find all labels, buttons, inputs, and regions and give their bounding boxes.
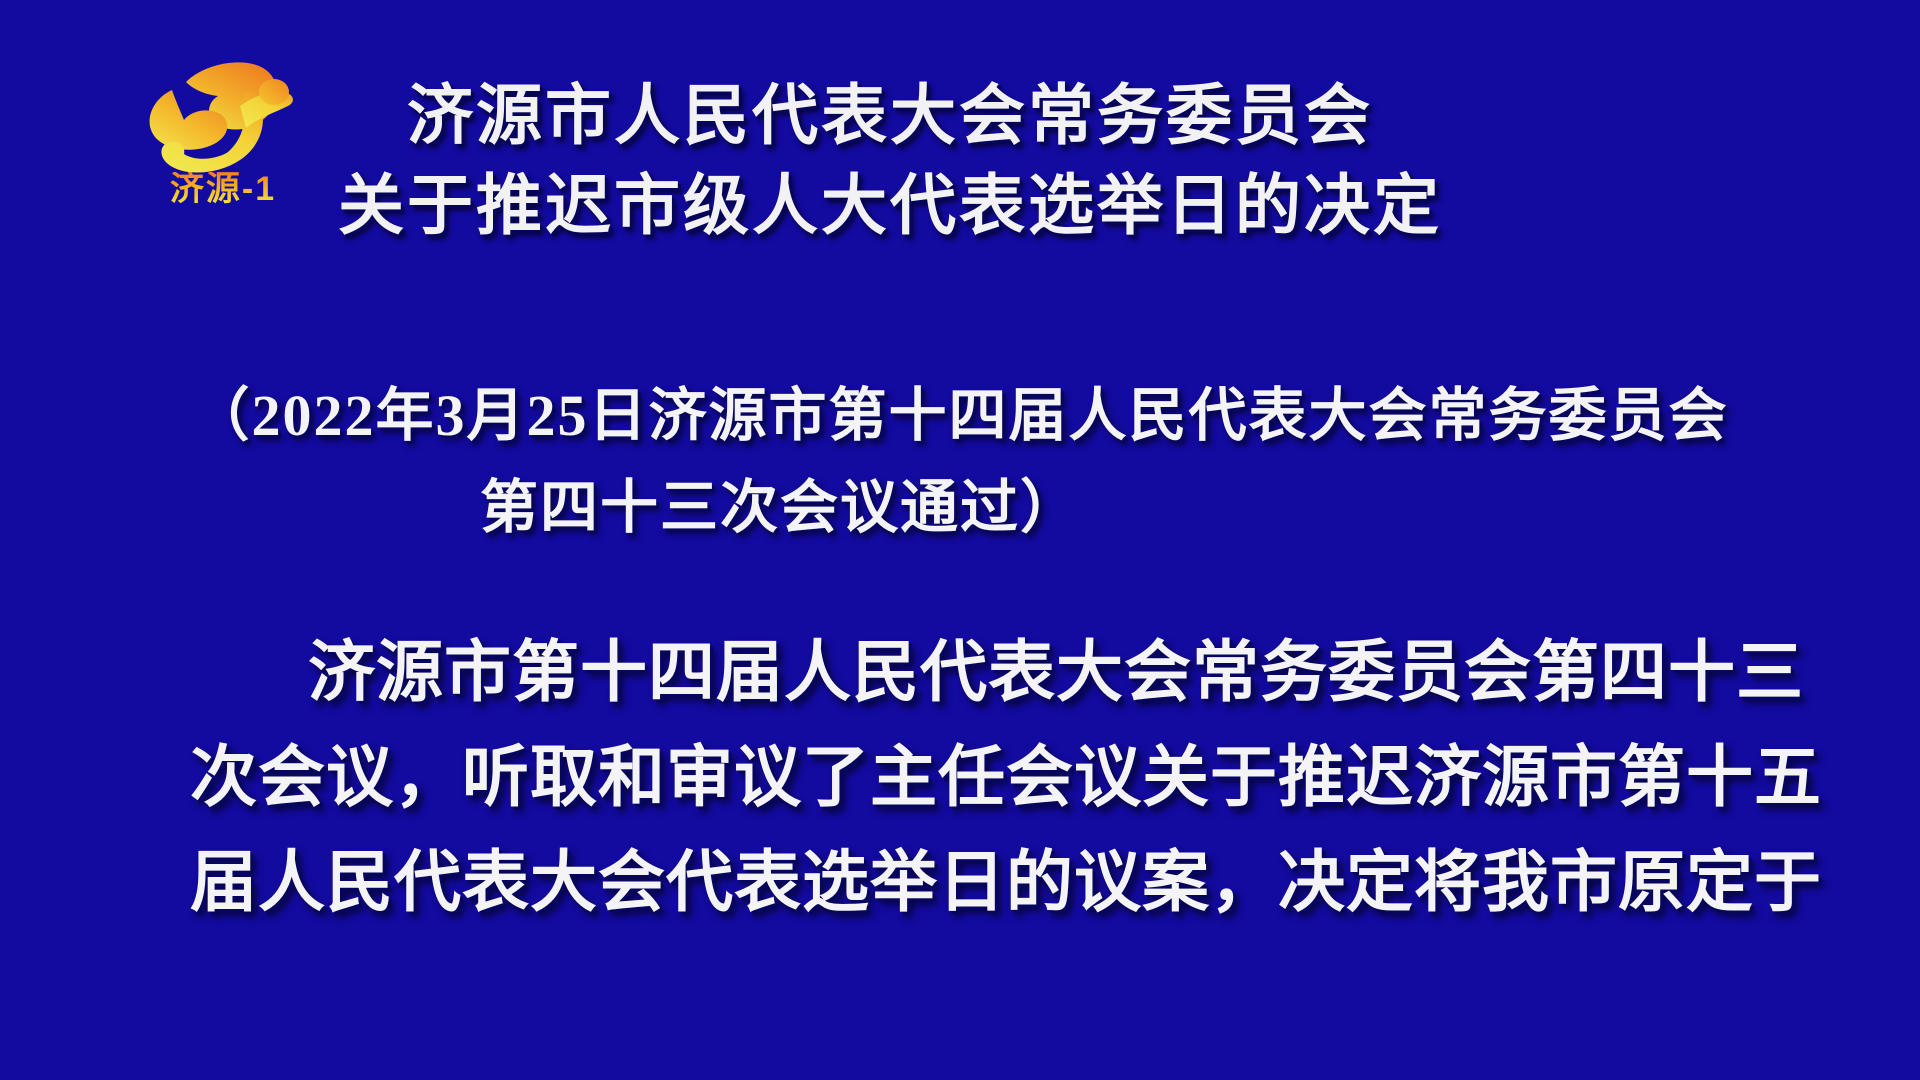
title-line-2: 关于推迟市级人大代表选举日的决定 <box>330 160 1450 250</box>
body-line-3: 届人民代表大会代表选举日的议案，决定将我市原定于 <box>190 830 1760 935</box>
body-paragraph: 济源市第十四届人民代表大会常务委员会第四十三 次会议，听取和审议了主任会议关于推… <box>190 620 1760 935</box>
channel-logo: 济源-1 <box>128 44 318 224</box>
enactment-note: （2022年3月25日济源市第十四届人民代表大会常务委员会 第四十三次会议通过） <box>150 370 1770 554</box>
body-line-2: 次会议，听取和审议了主任会议关于推迟济源市第十五 <box>190 725 1760 830</box>
broadcast-slide: 济源-1 济源市人民代表大会常务委员会 关于推迟市级人大代表选举日的决定 （20… <box>0 0 1920 1080</box>
subtitle-line-1: （2022年3月25日济源市第十四届人民代表大会常务委员会 <box>150 370 1770 462</box>
body-line-1: 济源市第十四届人民代表大会常务委员会第四十三 <box>190 620 1760 725</box>
page-title: 济源市人民代表大会常务委员会 关于推迟市级人大代表选举日的决定 <box>330 70 1450 250</box>
channel-logo-mark <box>128 44 318 184</box>
subtitle-line-2: 第四十三次会议通过） <box>150 462 1770 554</box>
title-line-1: 济源市人民代表大会常务委员会 <box>330 70 1450 160</box>
channel-logo-label: 济源-1 <box>128 172 318 206</box>
